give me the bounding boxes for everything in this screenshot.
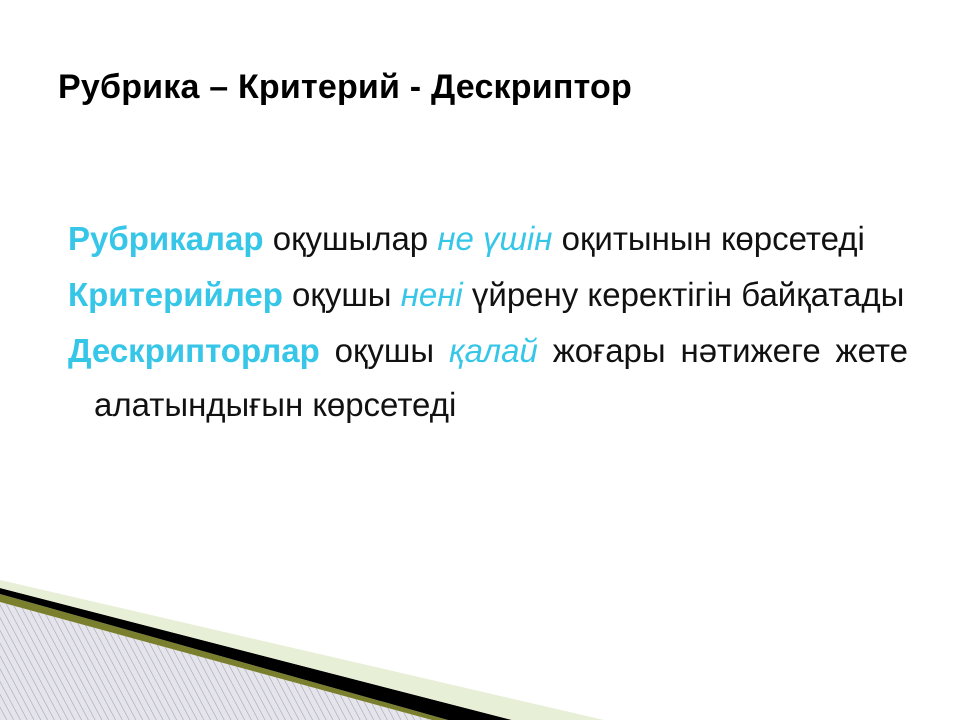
page-title: Рубрика – Критерий - Дескриптор	[58, 68, 908, 107]
body-text-block: Рубрикалар оқушылар не үшін оқитынын көр…	[68, 212, 908, 434]
olive-edge-line	[0, 594, 448, 720]
paragraph-criteria-keyword-wrap: Критерийлер	[68, 276, 283, 313]
pale-green-band	[0, 580, 604, 720]
paragraph-descriptors: Дескрипторлар оқушы қалай жоғары нәтижег…	[68, 324, 908, 432]
paragraph-rubrics-text-1: оқушылар	[264, 220, 438, 257]
paragraph-criteria-emphasis: нені	[401, 276, 463, 313]
paragraph-rubrics-keyword: Рубрикалар	[68, 220, 264, 257]
paragraph-descriptors-keyword-wrap: Дескрипторлар	[68, 332, 320, 369]
paragraph-criteria-text-2: үйрену керектігін байқатады	[463, 276, 905, 313]
slide-canvas: Рубрика – Критерий - Дескриптор Рубрикал…	[0, 0, 960, 720]
paragraph-rubrics: Рубрикалар оқушылар не үшін оқитынын көр…	[68, 212, 908, 266]
paragraph-rubrics-text-2: оқитынын көрсетеді	[552, 220, 864, 257]
black-band	[0, 588, 512, 720]
hatched-triangle	[0, 602, 432, 720]
bottom-left-decoration	[0, 580, 960, 720]
paragraph-criteria-text-1: оқушы	[283, 276, 401, 313]
paragraph-rubrics-keyword-wrap: Рубрикалар	[68, 220, 264, 257]
paragraph-descriptors-emphasis: қалай	[449, 332, 538, 369]
paragraph-criteria-keyword: Критерийлер	[68, 276, 283, 313]
paragraph-rubrics-emphasis: не үшін	[437, 220, 552, 257]
paragraph-descriptors-text-1: оқушы	[320, 332, 449, 369]
paragraph-criteria: Критерийлер оқушы нені үйрену керектігін…	[68, 268, 908, 322]
paragraph-descriptors-keyword: Дескрипторлар	[68, 332, 320, 369]
